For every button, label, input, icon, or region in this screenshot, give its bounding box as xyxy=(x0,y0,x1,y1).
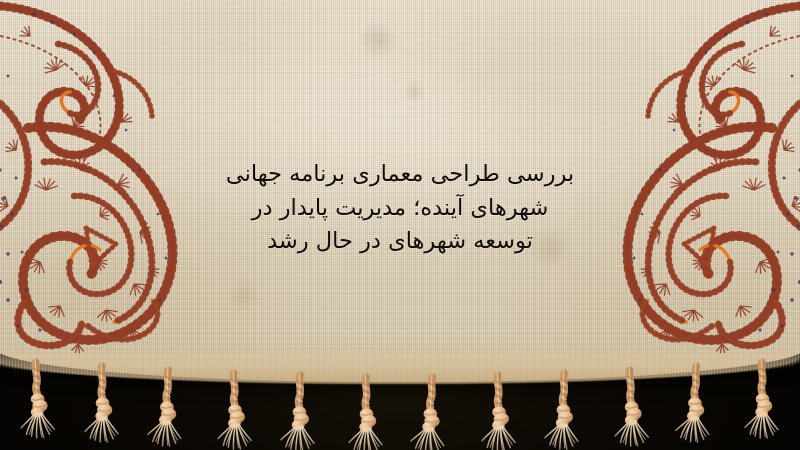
tassel xyxy=(744,362,778,439)
tassel xyxy=(612,369,649,447)
slide-canvas: بررسی طراحی معماری برنامه جهانی شهرهای آ… xyxy=(0,0,800,450)
tassel xyxy=(410,376,447,450)
tassel xyxy=(281,375,315,450)
tassel-row xyxy=(18,361,779,450)
tassel-fringe xyxy=(0,0,800,450)
tassel xyxy=(676,365,712,442)
tassel xyxy=(216,372,252,449)
tassel xyxy=(480,374,516,450)
tassel xyxy=(18,361,55,439)
tassel xyxy=(148,369,184,446)
tassel xyxy=(545,373,579,450)
tassel xyxy=(84,366,118,443)
tassel xyxy=(348,377,382,450)
